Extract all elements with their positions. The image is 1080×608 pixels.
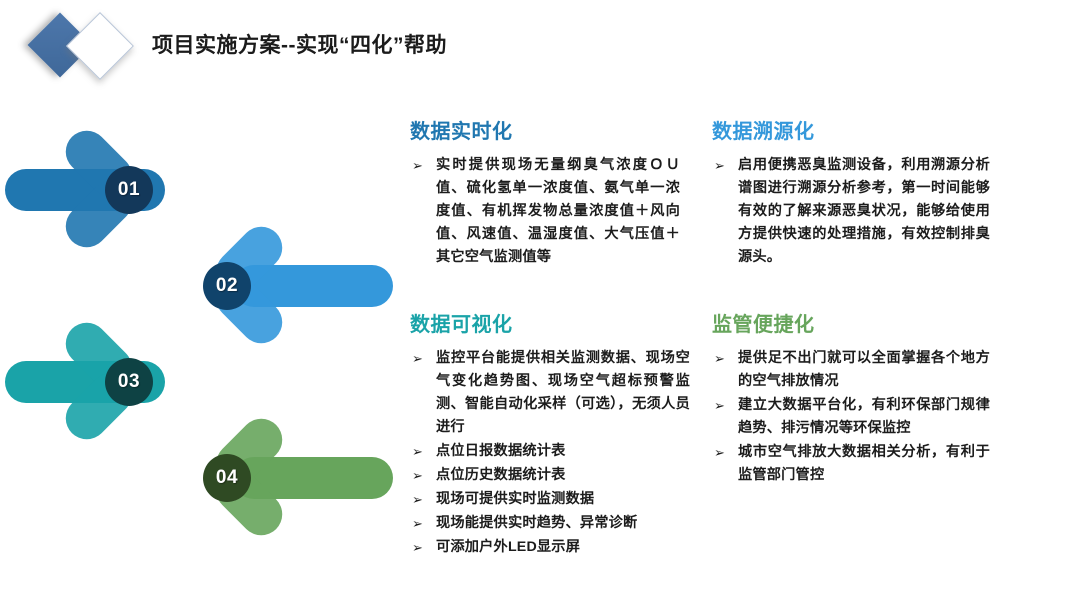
bullet-arrow-icon: ➢ — [412, 464, 423, 487]
bullet-arrow-icon: ➢ — [714, 154, 725, 177]
bullet-arrow-icon: ➢ — [412, 440, 423, 463]
arrow-diagram: 01020304 — [85, 120, 405, 500]
bullet-text: 现场能提供实时趋势、异常诊断 — [436, 515, 637, 531]
bullet-arrow-icon: ➢ — [412, 512, 423, 535]
bullet-item: ➢城市空气排放大数据相关分析，有利于监管部门管控 — [712, 441, 990, 487]
section-heading: 监管便捷化 — [712, 313, 990, 337]
section-bullet-list: ➢监控平台能提供相关监测数据、现场空气变化趋势图、现场空气超标预警监测、智能自动… — [410, 347, 690, 559]
bullet-text: 城市空气排放大数据相关分析，有利于监管部门管控 — [738, 444, 990, 483]
section-heading: 数据实时化 — [410, 120, 680, 144]
step-number-badge-02: 02 — [203, 262, 251, 310]
page-title: 项目实施方案--实现“四化”帮助 — [152, 29, 447, 59]
section-heading: 数据可视化 — [410, 313, 690, 337]
section-bullet-list: ➢启用便携恶臭监测设备，利用溯源分析谱图进行溯源分析参考，第一时间能够有效的了解… — [712, 154, 990, 269]
bullet-text: 点位日报数据统计表 — [436, 443, 566, 459]
bullet-text: 监控平台能提供相关监测数据、现场空气变化趋势图、现场空气超标预警监测、智能自动化… — [436, 350, 690, 435]
section-bullet-list: ➢实时提供现场无量纲臭气浓度ＯＵ值、硫化氢单一浓度值、氨气单一浓度值、有机挥发物… — [410, 154, 680, 269]
bullet-item: ➢点位历史数据统计表 — [410, 464, 690, 487]
bullet-arrow-icon: ➢ — [714, 347, 725, 370]
bullet-item: ➢可添加户外LED显示屏 — [410, 536, 690, 559]
bullet-text: 现场可提供实时监测数据 — [436, 491, 594, 507]
bullet-item: ➢实时提供现场无量纲臭气浓度ＯＵ值、硫化氢单一浓度值、氨气单一浓度值、有机挥发物… — [410, 154, 680, 269]
bullet-arrow-icon: ➢ — [412, 536, 423, 559]
diamond-hollow-icon — [66, 12, 134, 80]
step-number-label: 04 — [216, 467, 238, 489]
logo — [33, 12, 143, 80]
bullet-text: 建立大数据平台化，有利环保部门规律趋势、排污情况等环保监控 — [738, 397, 990, 436]
bullet-text: 启用便携恶臭监测设备，利用溯源分析谱图进行溯源分析参考，第一时间能够有效的了解来… — [738, 157, 990, 265]
bullet-item: ➢监控平台能提供相关监测数据、现场空气变化趋势图、现场空气超标预警监测、智能自动… — [410, 347, 690, 439]
bullet-item: ➢启用便携恶臭监测设备，利用溯源分析谱图进行溯源分析参考，第一时间能够有效的了解… — [712, 154, 990, 269]
bullet-text: 可添加户外LED显示屏 — [436, 539, 580, 555]
slide-header: 项目实施方案--实现“四化”帮助 — [0, 0, 1080, 92]
section-1: 数据实时化➢实时提供现场无量纲臭气浓度ＯＵ值、硫化氢单一浓度值、氨气单一浓度值、… — [410, 120, 680, 270]
section-heading: 数据溯源化 — [712, 120, 990, 144]
step-number-label: 03 — [118, 371, 140, 393]
bullet-arrow-icon: ➢ — [412, 347, 423, 370]
bullet-item: ➢点位日报数据统计表 — [410, 440, 690, 463]
step-number-badge-03: 03 — [105, 358, 153, 406]
section-bullet-list: ➢提供足不出门就可以全面掌握各个地方的空气排放情况➢建立大数据平台化，有利环保部… — [712, 347, 990, 487]
section-2: 数据溯源化➢启用便携恶臭监测设备，利用溯源分析谱图进行溯源分析参考，第一时间能够… — [712, 120, 990, 270]
step-number-badge-04: 04 — [203, 454, 251, 502]
bullet-item: ➢建立大数据平台化，有利环保部门规律趋势、排污情况等环保监控 — [712, 394, 990, 440]
step-number-label: 02 — [216, 275, 238, 297]
bullet-arrow-icon: ➢ — [412, 154, 423, 177]
bullet-arrow-icon: ➢ — [714, 394, 725, 417]
section-4: 监管便捷化➢提供足不出门就可以全面掌握各个地方的空气排放情况➢建立大数据平台化，… — [712, 313, 990, 488]
bullet-item: ➢现场可提供实时监测数据 — [410, 488, 690, 511]
step-number-label: 01 — [118, 179, 140, 201]
section-3: 数据可视化➢监控平台能提供相关监测数据、现场空气变化趋势图、现场空气超标预警监测… — [410, 313, 690, 560]
step-number-badge-01: 01 — [105, 166, 153, 214]
bullet-item: ➢现场能提供实时趋势、异常诊断 — [410, 512, 690, 535]
bullet-text: 点位历史数据统计表 — [436, 467, 566, 483]
bullet-arrow-icon: ➢ — [714, 441, 725, 464]
bullet-text: 提供足不出门就可以全面掌握各个地方的空气排放情况 — [738, 350, 990, 389]
bullet-arrow-icon: ➢ — [412, 488, 423, 511]
bullet-item: ➢提供足不出门就可以全面掌握各个地方的空气排放情况 — [712, 347, 990, 393]
bullet-text: 实时提供现场无量纲臭气浓度ＯＵ值、硫化氢单一浓度值、氨气单一浓度值、有机挥发物总… — [436, 157, 680, 265]
arrow-step-04: 04 — [115, 408, 395, 548]
